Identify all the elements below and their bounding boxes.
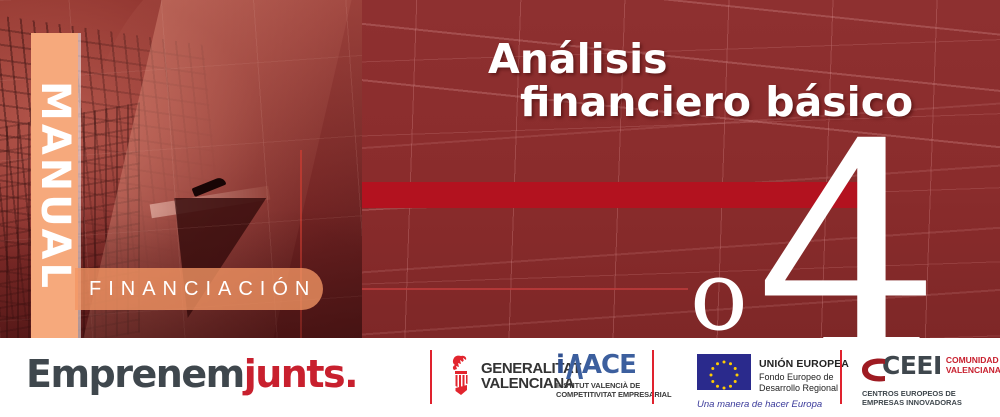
ceei-comunidad: COMUNIDAD VALENCIANA bbox=[946, 355, 1000, 375]
chapter-number: 4 o bbox=[678, 120, 958, 338]
footer-divider-1 bbox=[430, 350, 432, 404]
cover-page: MANUAL FINANCIACIÓN Análisis financiero … bbox=[0, 0, 1000, 417]
ivace-sub-line-1: INSTITUT VALENCIÀ DE bbox=[556, 381, 671, 390]
section-pill: FINANCIACIÓN bbox=[75, 268, 323, 310]
ceei-logo[interactable]: CEEI COMUNIDAD VALENCIANA CENTROS EUROPE… bbox=[862, 354, 1000, 408]
ivace-letters-ace: ACE bbox=[582, 354, 636, 378]
section-label: FINANCIACIÓN bbox=[75, 278, 316, 301]
footer-divider-2 bbox=[652, 350, 654, 404]
eu-line-1: Fondo Europeo de bbox=[759, 372, 849, 383]
eu-title: UNIÓN EUROPEA bbox=[759, 358, 849, 370]
ceei-subtitle: CENTROS EUROPEOS DE EMPRESAS INNOVADORAS bbox=[862, 389, 1000, 408]
ceei-sub-line-2: EMPRESAS INNOVADORAS bbox=[862, 398, 1000, 407]
ceei-cv-line-1: COMUNIDAD bbox=[946, 355, 1000, 365]
chapter-number-digit: 4 bbox=[756, 108, 941, 338]
eu-flag-icon bbox=[697, 354, 751, 390]
emprenemjunts-logo[interactable]: Emprenemjunts. bbox=[26, 352, 357, 396]
eu-text-block: UNIÓN EUROPEA Fondo Europeo de Desarroll… bbox=[759, 354, 849, 393]
ivace-letter-i: i bbox=[556, 354, 564, 378]
emprenem-word: Emprenem bbox=[26, 352, 244, 396]
ceei-arc-icon bbox=[862, 355, 884, 385]
footer-bar: Emprenemjunts. bbox=[0, 338, 1000, 417]
eu-row: UNIÓN EUROPEA Fondo Europeo de Desarroll… bbox=[697, 354, 849, 393]
ceei-wordmark: CEEI bbox=[882, 354, 942, 378]
ivace-chevron-icon bbox=[565, 354, 581, 378]
ivace-logo[interactable]: i ACE INSTITUT VALENCIÀ DE COMPETITIVITA… bbox=[556, 354, 671, 400]
ivace-subtitle: INSTITUT VALENCIÀ DE COMPETITIVITAT EMPR… bbox=[556, 381, 671, 400]
eu-slogan: Una manera de hacer Europa bbox=[697, 399, 849, 410]
hero-banner: MANUAL FINANCIACIÓN Análisis financiero … bbox=[0, 0, 1000, 338]
ivace-wordmark: i ACE bbox=[556, 354, 671, 378]
european-union-logo[interactable]: UNIÓN EUROPEA Fondo Europeo de Desarroll… bbox=[697, 354, 849, 410]
hero-horizontal-rule bbox=[358, 288, 688, 290]
footer-divider-3 bbox=[840, 350, 842, 404]
ivace-sub-line-2: COMPETITIVITAT EMPRESARIAL bbox=[556, 390, 671, 399]
eu-line-2: Desarrollo Regional bbox=[759, 383, 849, 394]
manual-sidebar: MANUAL bbox=[31, 33, 78, 338]
ceei-cv-line-2: VALENCIANA bbox=[946, 365, 1000, 375]
chapter-number-zero: o bbox=[690, 248, 748, 338]
ceei-row: CEEI COMUNIDAD VALENCIANA bbox=[862, 354, 1000, 385]
junts-word: junts. bbox=[244, 352, 357, 396]
ceei-sub-line-1: CENTROS EUROPEOS DE bbox=[862, 389, 1000, 398]
manual-label: MANUAL bbox=[35, 81, 75, 291]
generalitat-bat-icon bbox=[448, 355, 474, 397]
title-line-1: Análisis bbox=[488, 38, 958, 81]
